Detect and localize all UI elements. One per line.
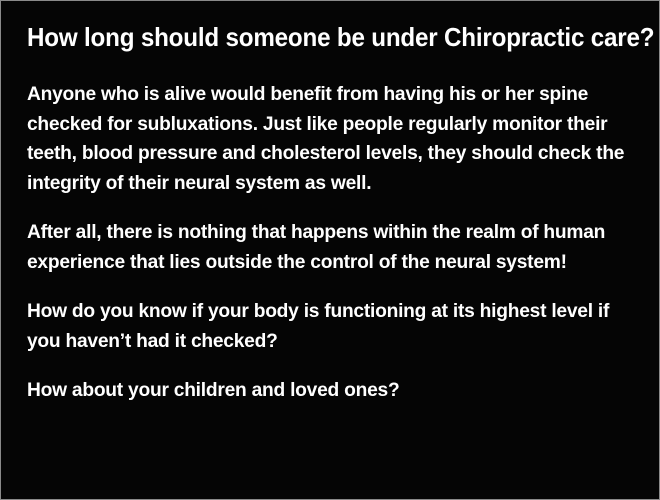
body-paragraph: How do you know if your body is function…: [27, 297, 630, 356]
body-paragraph: After all, there is nothing that happens…: [27, 218, 630, 277]
slide-body: Anyone who is alive would benefit from h…: [27, 80, 639, 406]
body-paragraph: Anyone who is alive would benefit from h…: [27, 80, 630, 198]
body-paragraph: How about your children and loved ones?: [27, 376, 630, 406]
slide-container: How long should someone be under Chiropr…: [0, 0, 660, 500]
slide-title: How long should someone be under Chiropr…: [27, 23, 659, 52]
slide-content: How long should someone be under Chiropr…: [27, 23, 639, 406]
